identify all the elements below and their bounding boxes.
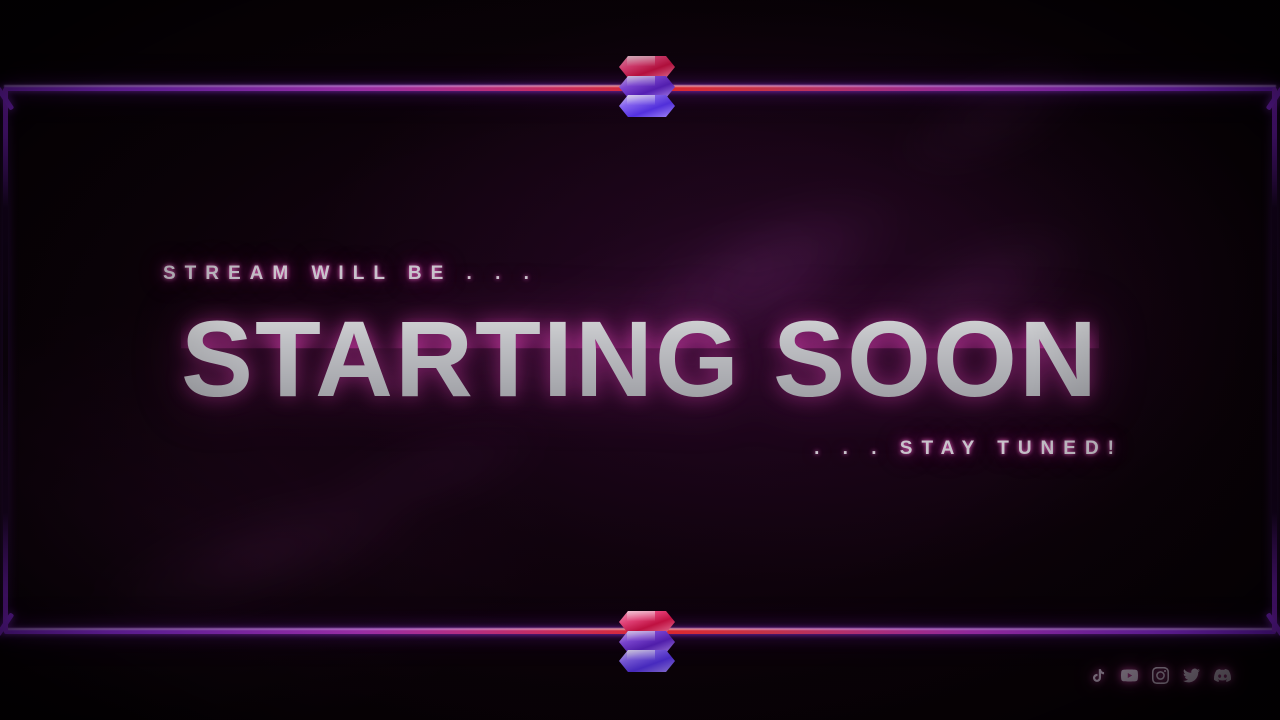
stream-overlay-screen: STREAM WILL BE . . . STARTING SOON START… bbox=[0, 0, 1280, 720]
headline-container: STARTING SOON bbox=[0, 305, 1280, 413]
tagline-text: . . . STAY TUNED! bbox=[814, 438, 1123, 460]
frame-corner-top-right bbox=[1266, 86, 1280, 110]
frame-border-top-highlight bbox=[4, 85, 1276, 87]
frame-border-bottom bbox=[4, 629, 1276, 634]
instagram-icon[interactable] bbox=[1152, 667, 1169, 684]
twitter-icon[interactable] bbox=[1183, 667, 1200, 684]
gem-purple-icon bbox=[619, 76, 675, 98]
gem-red-icon bbox=[619, 611, 675, 633]
youtube-icon[interactable] bbox=[1121, 667, 1138, 684]
page-title: STARTING SOON bbox=[181, 305, 1099, 413]
gem-purple-icon bbox=[619, 631, 675, 653]
tiktok-icon[interactable] bbox=[1090, 667, 1107, 684]
frame-corner-top-left bbox=[0, 86, 14, 110]
frame-corner-bottom-left bbox=[0, 612, 14, 636]
frame-corner-bottom-right bbox=[1266, 612, 1280, 636]
gem-violet-icon bbox=[619, 95, 675, 117]
gem-cluster-bottom bbox=[612, 609, 682, 671]
frame-border-top bbox=[4, 86, 1276, 91]
gem-red-icon bbox=[619, 56, 675, 78]
social-links bbox=[1090, 667, 1231, 684]
gem-cluster-top bbox=[612, 54, 682, 116]
discord-icon[interactable] bbox=[1214, 667, 1231, 684]
frame-border-bottom-highlight bbox=[4, 628, 1276, 630]
kicker-text: STREAM WILL BE . . . bbox=[163, 263, 538, 285]
gem-violet-icon bbox=[619, 650, 675, 672]
